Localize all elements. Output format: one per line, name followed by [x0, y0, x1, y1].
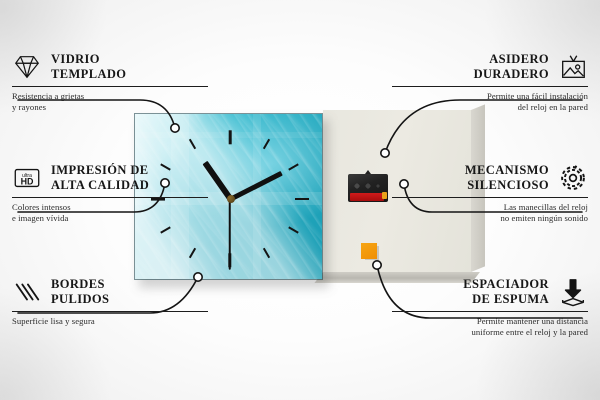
feature-title: MECANISMO SILENCIOSO: [465, 163, 549, 194]
feature-description: Colores intensos e imagen vívida: [12, 202, 208, 225]
feature-description: Permite una fácil instalación del reloj …: [392, 91, 588, 114]
ultra-hd-large-label: HD: [21, 177, 34, 187]
feature-description: Permite mantener una distancia uniforme …: [392, 316, 588, 339]
clock-mechanism: [348, 170, 388, 202]
feature-divider: [392, 197, 588, 198]
polished-edges-icon: [12, 277, 42, 307]
feature-vidrio-templado: VIDRIO TEMPLADO Resistencia a grietas y …: [12, 52, 208, 114]
feature-heading: MECANISMO SILENCIOSO: [392, 163, 588, 194]
feature-impresion-alta-calidad: ultra HD IMPRESIÓN DE ALTA CALIDAD Color…: [12, 163, 208, 225]
foam-spacer-sample: [361, 243, 377, 259]
feature-title: ESPACIADOR DE ESPUMA: [463, 277, 549, 308]
feature-mecanismo-silencioso: MECANISMO SILENCIOSO Las manecillas del …: [392, 163, 588, 225]
infographic-canvas: VIDRIO TEMPLADO Resistencia a grietas y …: [0, 0, 600, 400]
feature-asidero-duradero: ASIDERO DURADERO Permite una fácil insta…: [392, 52, 588, 114]
feature-heading: BORDES PULIDOS: [12, 277, 208, 308]
feature-divider: [392, 311, 588, 312]
feature-description: Superficie lisa y segura: [12, 316, 208, 328]
feature-espaciador-espuma: ESPACIADOR DE ESPUMA Permite mantener un…: [392, 277, 588, 339]
feature-title: VIDRIO TEMPLADO: [51, 52, 126, 83]
ultra-hd-icon: ultra HD: [12, 163, 42, 193]
feature-heading: ESPACIADOR DE ESPUMA: [392, 277, 588, 308]
clock-second-hand: [229, 198, 231, 270]
gear-icon: [558, 163, 588, 193]
feature-divider: [12, 197, 208, 198]
mechanism-knobs: [352, 182, 382, 191]
clock-tick: [295, 198, 309, 201]
clock-center-cap: [227, 195, 235, 203]
feature-divider: [12, 86, 208, 87]
feature-description: Resistencia a grietas y rayones: [12, 91, 208, 114]
feature-bordes-pulidos: BORDES PULIDOS Superficie lisa y segura: [12, 277, 208, 327]
wall-hanger-icon: [558, 52, 588, 82]
clock-tick: [228, 131, 231, 145]
feature-heading: VIDRIO TEMPLADO: [12, 52, 208, 83]
feature-heading: ultra HD IMPRESIÓN DE ALTA CALIDAD: [12, 163, 208, 194]
mechanism-battery-tip: [382, 192, 387, 199]
feature-heading: ASIDERO DURADERO: [392, 52, 588, 83]
feature-title: IMPRESIÓN DE ALTA CALIDAD: [51, 163, 149, 194]
mechanism-battery: [350, 193, 384, 201]
spacer-arrow-icon: [558, 277, 588, 307]
diamond-icon: [12, 52, 42, 82]
mechanism-body: [348, 174, 388, 202]
feature-divider: [12, 311, 208, 312]
feature-description: Las manecillas del reloj no emiten ningú…: [392, 202, 588, 225]
feature-divider: [392, 86, 588, 87]
feature-title: BORDES PULIDOS: [51, 277, 109, 308]
feature-title: ASIDERO DURADERO: [474, 52, 549, 83]
